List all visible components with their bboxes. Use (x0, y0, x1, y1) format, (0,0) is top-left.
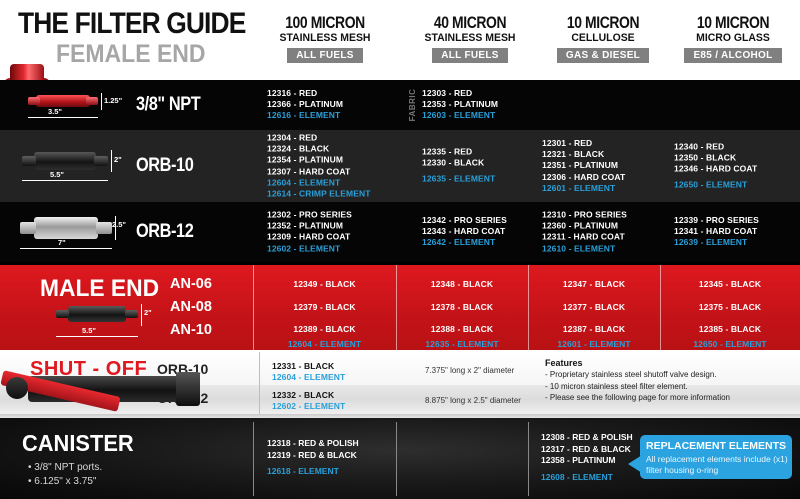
part-number: 12360 - PLATINUM (542, 221, 627, 232)
cell-100micron: 12316 - RED 12366 - PLATINUM 12616 - ELE… (253, 80, 396, 130)
female-end-table: 3.5" 1.25" 3/8" NPT 12316 - RED 12366 - … (0, 80, 800, 262)
filter-endcap-left (28, 97, 40, 105)
part-number-element: 12635 - ELEMENT (422, 174, 495, 185)
part-number: 12307 - HARD COAT (267, 166, 371, 177)
part-number: 12353 - PLATINUM (422, 99, 498, 110)
part-number: 12332 - BLACK (272, 390, 334, 400)
dimension-line-length (22, 180, 108, 181)
column-divider (259, 352, 260, 416)
column-header-100-micron: 100 MICRON STAINLESS MESH ALL FUELS (260, 14, 390, 63)
cell-40micron: 12342 - PRO SERIES 12343 - HARD COAT 126… (396, 202, 528, 262)
part-number: 12375 - BLACK (660, 302, 800, 312)
column-micron-label: 40 MICRON (417, 14, 524, 32)
dimension-line-length (56, 336, 138, 337)
filter-endcap-left (56, 310, 69, 318)
table-row: 5.5" 2" ORB-10 12304 - RED 12324 - BLACK… (0, 130, 800, 202)
part-number: 12342 - PRO SERIES (422, 215, 507, 226)
part-number: 12339 - PRO SERIES (674, 215, 759, 226)
part-number-element: 12601 - ELEMENT (542, 183, 625, 194)
part-number: 12379 - BLACK (253, 302, 396, 312)
part-number: 12346 - HARD COAT (674, 164, 757, 175)
dimension-length-label: 3.5" (48, 107, 62, 116)
part-number: 12377 - BLACK (528, 302, 660, 312)
column-micron-label: 100 MICRON (272, 14, 379, 32)
replacement-elements-callout: REPLACEMENT ELEMENTS All replacement ele… (640, 435, 792, 479)
dimension-line-diameter (111, 150, 112, 172)
column-divider (528, 422, 529, 496)
cell-10micron-microglass (660, 80, 800, 130)
column-header-10-micron-micro-glass: 10 MICRON MICRO GLASS E85 / ALCOHOL (668, 14, 798, 63)
filter-shape (28, 93, 98, 109)
part-number: 12316 - RED (267, 88, 343, 99)
filter-body (68, 306, 126, 322)
fabric-tag-wrap: FABRIC (394, 80, 410, 130)
features-box: Features - Proprietary stainless steel s… (545, 358, 730, 404)
part-number: 12340 - RED (674, 142, 757, 153)
cell-10micron-cellulose (528, 80, 660, 130)
filter-endcap-right (94, 156, 108, 166)
column-micron-label: 10 MICRON (550, 14, 657, 32)
part-number: 12354 - PLATINUM (267, 155, 371, 166)
shut-off-valve-illustration (0, 368, 200, 410)
part-number: 12330 - BLACK (422, 158, 495, 169)
dimension-diameter-label: 2" (114, 155, 122, 164)
dimension-length-label: 7" (58, 238, 66, 247)
canister-bullets: • 3/8" NPT ports. • 6.125" x 3.75" (28, 461, 102, 489)
callout-text: All replacement elements include (x1) fi… (646, 454, 788, 476)
shut-off-dimension: 8.875" long x 2.5" diameter (425, 396, 521, 405)
row-label-npt: 3/8" NPT (136, 94, 246, 116)
part-number: 12301 - RED (542, 138, 625, 149)
page-header: THE FILTER GUIDE FEMALE END 100 MICRON S… (0, 0, 800, 80)
part-number-element: 12604 - ELEMENT (267, 177, 371, 188)
filter-endcap-right (96, 222, 112, 234)
column-media-label: MICRO GLASS (671, 32, 795, 45)
part-number: 12387 - BLACK (528, 324, 660, 334)
column-micron-label: 10 MICRON (680, 14, 787, 32)
part-number: 12345 - BLACK (660, 279, 800, 289)
part-number: 12366 - PLATINUM (267, 99, 343, 110)
part-number: 12324 - BLACK (267, 144, 371, 155)
part-number: 12349 - BLACK (253, 279, 396, 289)
shut-off-dimension: 7.375" long x 2" diameter (425, 366, 514, 375)
part-number: 12321 - BLACK (542, 149, 625, 160)
callout-title: REPLACEMENT ELEMENTS (640, 440, 792, 452)
column-media-label: STAINLESS MESH (263, 32, 387, 45)
part-number: 12347 - BLACK (528, 279, 660, 289)
dimension-line-diameter (101, 93, 102, 110)
cell-10micron-cellulose: 12301 - RED 12321 - BLACK 12351 - PLATIN… (528, 130, 660, 202)
filter-body (34, 217, 98, 239)
part-number: 12308 - RED & POLISH (541, 432, 633, 444)
filter-guide-page: THE FILTER GUIDE FEMALE END 100 MICRON S… (0, 0, 800, 499)
features-heading: Features (545, 358, 730, 368)
part-number-element: 12601 - ELEMENT (528, 339, 660, 349)
fabric-label: FABRIC (408, 89, 417, 122)
column-divider (396, 422, 397, 496)
part-number-element: 12618 - ELEMENT (267, 466, 359, 478)
cell-100micron: 12304 - RED 12324 - BLACK 12354 - PLATIN… (253, 130, 396, 202)
part-number: 12310 - PRO SERIES (542, 210, 627, 221)
part-number-element: 12608 - ELEMENT (541, 472, 633, 484)
canister-bullet: • 6.125" x 3.75" (28, 475, 102, 489)
filter-endcap-left (22, 156, 36, 166)
part-number: 12378 - BLACK (396, 302, 528, 312)
part-number: 12335 - RED (422, 147, 495, 158)
dimension-diameter-label: 2.5" (112, 220, 126, 229)
part-number: 12348 - BLACK (396, 279, 528, 289)
row-label-orb12: ORB-12 (136, 221, 246, 243)
filter-body (34, 152, 96, 170)
cell-40micron: 12335 - RED 12330 - BLACK 12635 - ELEMEN… (396, 130, 528, 202)
cell-10micron-cellulose: 12310 - PRO SERIES 12360 - PLATINUM 1231… (528, 202, 660, 262)
part-number: 12309 - HARD COAT (267, 232, 352, 243)
part-number: 12358 - PLATINUM (541, 455, 633, 467)
part-number: 12317 - RED & BLACK (541, 444, 633, 456)
part-number: 12331 - BLACK (272, 361, 334, 371)
filter-shape (20, 216, 112, 240)
column-fuel-badge: ALL FUELS (287, 48, 363, 63)
column-fuel-badge: GAS & DIESEL (557, 48, 649, 63)
part-number-element: 12610 - ELEMENT (542, 243, 627, 254)
column-header-40-micron: 40 MICRON STAINLESS MESH ALL FUELS (405, 14, 535, 63)
size-label-an08: AN-08 (170, 299, 212, 315)
size-label-an06: AN-06 (170, 276, 212, 292)
part-number: 12311 - HARD COAT (542, 232, 627, 243)
part-number-element: 12603 - ELEMENT (422, 111, 498, 122)
part-number-element: 12635 - ELEMENT (396, 339, 528, 349)
dimension-line-length (28, 117, 98, 118)
part-number-element: 12602 - ELEMENT (272, 401, 345, 411)
row-product-image: 3.5" 1.25" (0, 80, 130, 130)
filter-endcap-right (125, 310, 138, 318)
part-number: 12319 - RED & BLACK (267, 450, 359, 462)
valve-pivot (6, 377, 28, 399)
column-media-label: STAINLESS MESH (408, 32, 532, 45)
row-label-orb10: ORB-10 (136, 155, 246, 177)
column-divider (253, 422, 254, 496)
part-number: 12389 - BLACK (253, 324, 396, 334)
part-number-element: 12616 - ELEMENT (267, 111, 343, 122)
row-product-image: 5.5" 2" (0, 130, 130, 202)
page-title: THE FILTER GUIDE (18, 7, 245, 41)
dimension-line-length (20, 248, 112, 249)
column-media-label: CELLULOSE (541, 32, 665, 45)
filter-body (36, 95, 90, 107)
filter-endcap-right (86, 97, 98, 105)
dimension-diameter-label: 1.25" (104, 96, 122, 105)
cell-40micron: FABRIC 12303 - RED 12353 - PLATINUM 1260… (396, 80, 528, 130)
canister-title: CANISTER (22, 430, 134, 457)
part-number: 12385 - BLACK (660, 324, 800, 334)
part-number: 12306 - HARD COAT (542, 172, 625, 183)
filter-shape (22, 150, 108, 172)
dimension-diameter-label: 2" (144, 308, 152, 317)
feature-item: - Please see the following page for more… (545, 392, 730, 404)
dimension-line-diameter (141, 304, 142, 326)
female-end-subtitle: FEMALE END (56, 40, 206, 69)
part-number-element: 12642 - ELEMENT (422, 238, 507, 249)
part-number-element: 12604 - ELEMENT (272, 372, 345, 382)
table-row: 7" 2.5" ORB-12 12302 - PRO SERIES 12352 … (0, 202, 800, 262)
canister-part-list-cellulose: 12308 - RED & POLISH 12317 - RED & BLACK… (541, 432, 633, 483)
column-header-10-micron-cellulose: 10 MICRON CELLULOSE GAS & DIESEL (538, 14, 668, 63)
section-top-edge (0, 262, 800, 265)
part-number-element: 12604 - ELEMENT (253, 339, 396, 349)
part-number-element: 12614 - CRIMP ELEMENT (267, 188, 371, 199)
part-number-element: 12650 - ELEMENT (674, 179, 757, 190)
size-label-an10: AN-10 (170, 322, 212, 338)
part-number: 12318 - RED & POLISH (267, 438, 359, 450)
feature-item: - 10 micron stainless steel filter eleme… (545, 381, 730, 393)
dimension-length-label: 5.5" (82, 326, 96, 335)
filter-endcap-left (20, 222, 36, 234)
part-number: 12388 - BLACK (396, 324, 528, 334)
table-row: 3.5" 1.25" 3/8" NPT 12316 - RED 12366 - … (0, 80, 800, 130)
part-number-element: 12639 - ELEMENT (674, 238, 759, 249)
part-number: 12302 - PRO SERIES (267, 210, 352, 221)
part-number: 12304 - RED (267, 132, 371, 143)
part-number: 12303 - RED (422, 88, 498, 99)
cell-10micron-microglass: 12340 - RED 12350 - BLACK 12346 - HARD C… (660, 130, 800, 202)
part-number-element: 12602 - ELEMENT (267, 243, 352, 254)
male-end-title: MALE END (40, 275, 159, 303)
part-number: 12350 - BLACK (674, 153, 757, 164)
canister-part-list-100micron: 12318 - RED & POLISH 12319 - RED & BLACK… (267, 438, 359, 478)
feature-item: - Proprietary stainless steel shutoff va… (545, 369, 730, 381)
part-number: 12351 - PLATINUM (542, 160, 625, 171)
column-fuel-badge: ALL FUELS (432, 48, 508, 63)
part-number: 12352 - PLATINUM (267, 221, 352, 232)
male-end-section: MALE END 5.5" 2" AN-06 AN-08 AN-10 12349… (0, 262, 800, 350)
canister-bullet: • 3/8" NPT ports. (28, 461, 102, 475)
column-fuel-badge: E85 / ALCOHOL (684, 48, 781, 63)
valve-tip (176, 372, 200, 406)
row-product-image: 7" 2.5" (0, 202, 130, 262)
part-number: 12341 - HARD COAT (674, 226, 759, 237)
male-end-product-image (56, 304, 138, 324)
part-number-element: 12650 - ELEMENT (660, 339, 800, 349)
cell-10micron-microglass: 12339 - PRO SERIES 12341 - HARD COAT 126… (660, 202, 800, 262)
cell-100micron: 12302 - PRO SERIES 12352 - PLATINUM 1230… (253, 202, 396, 262)
dimension-length-label: 5.5" (50, 170, 64, 179)
part-number: 12343 - HARD COAT (422, 226, 507, 237)
